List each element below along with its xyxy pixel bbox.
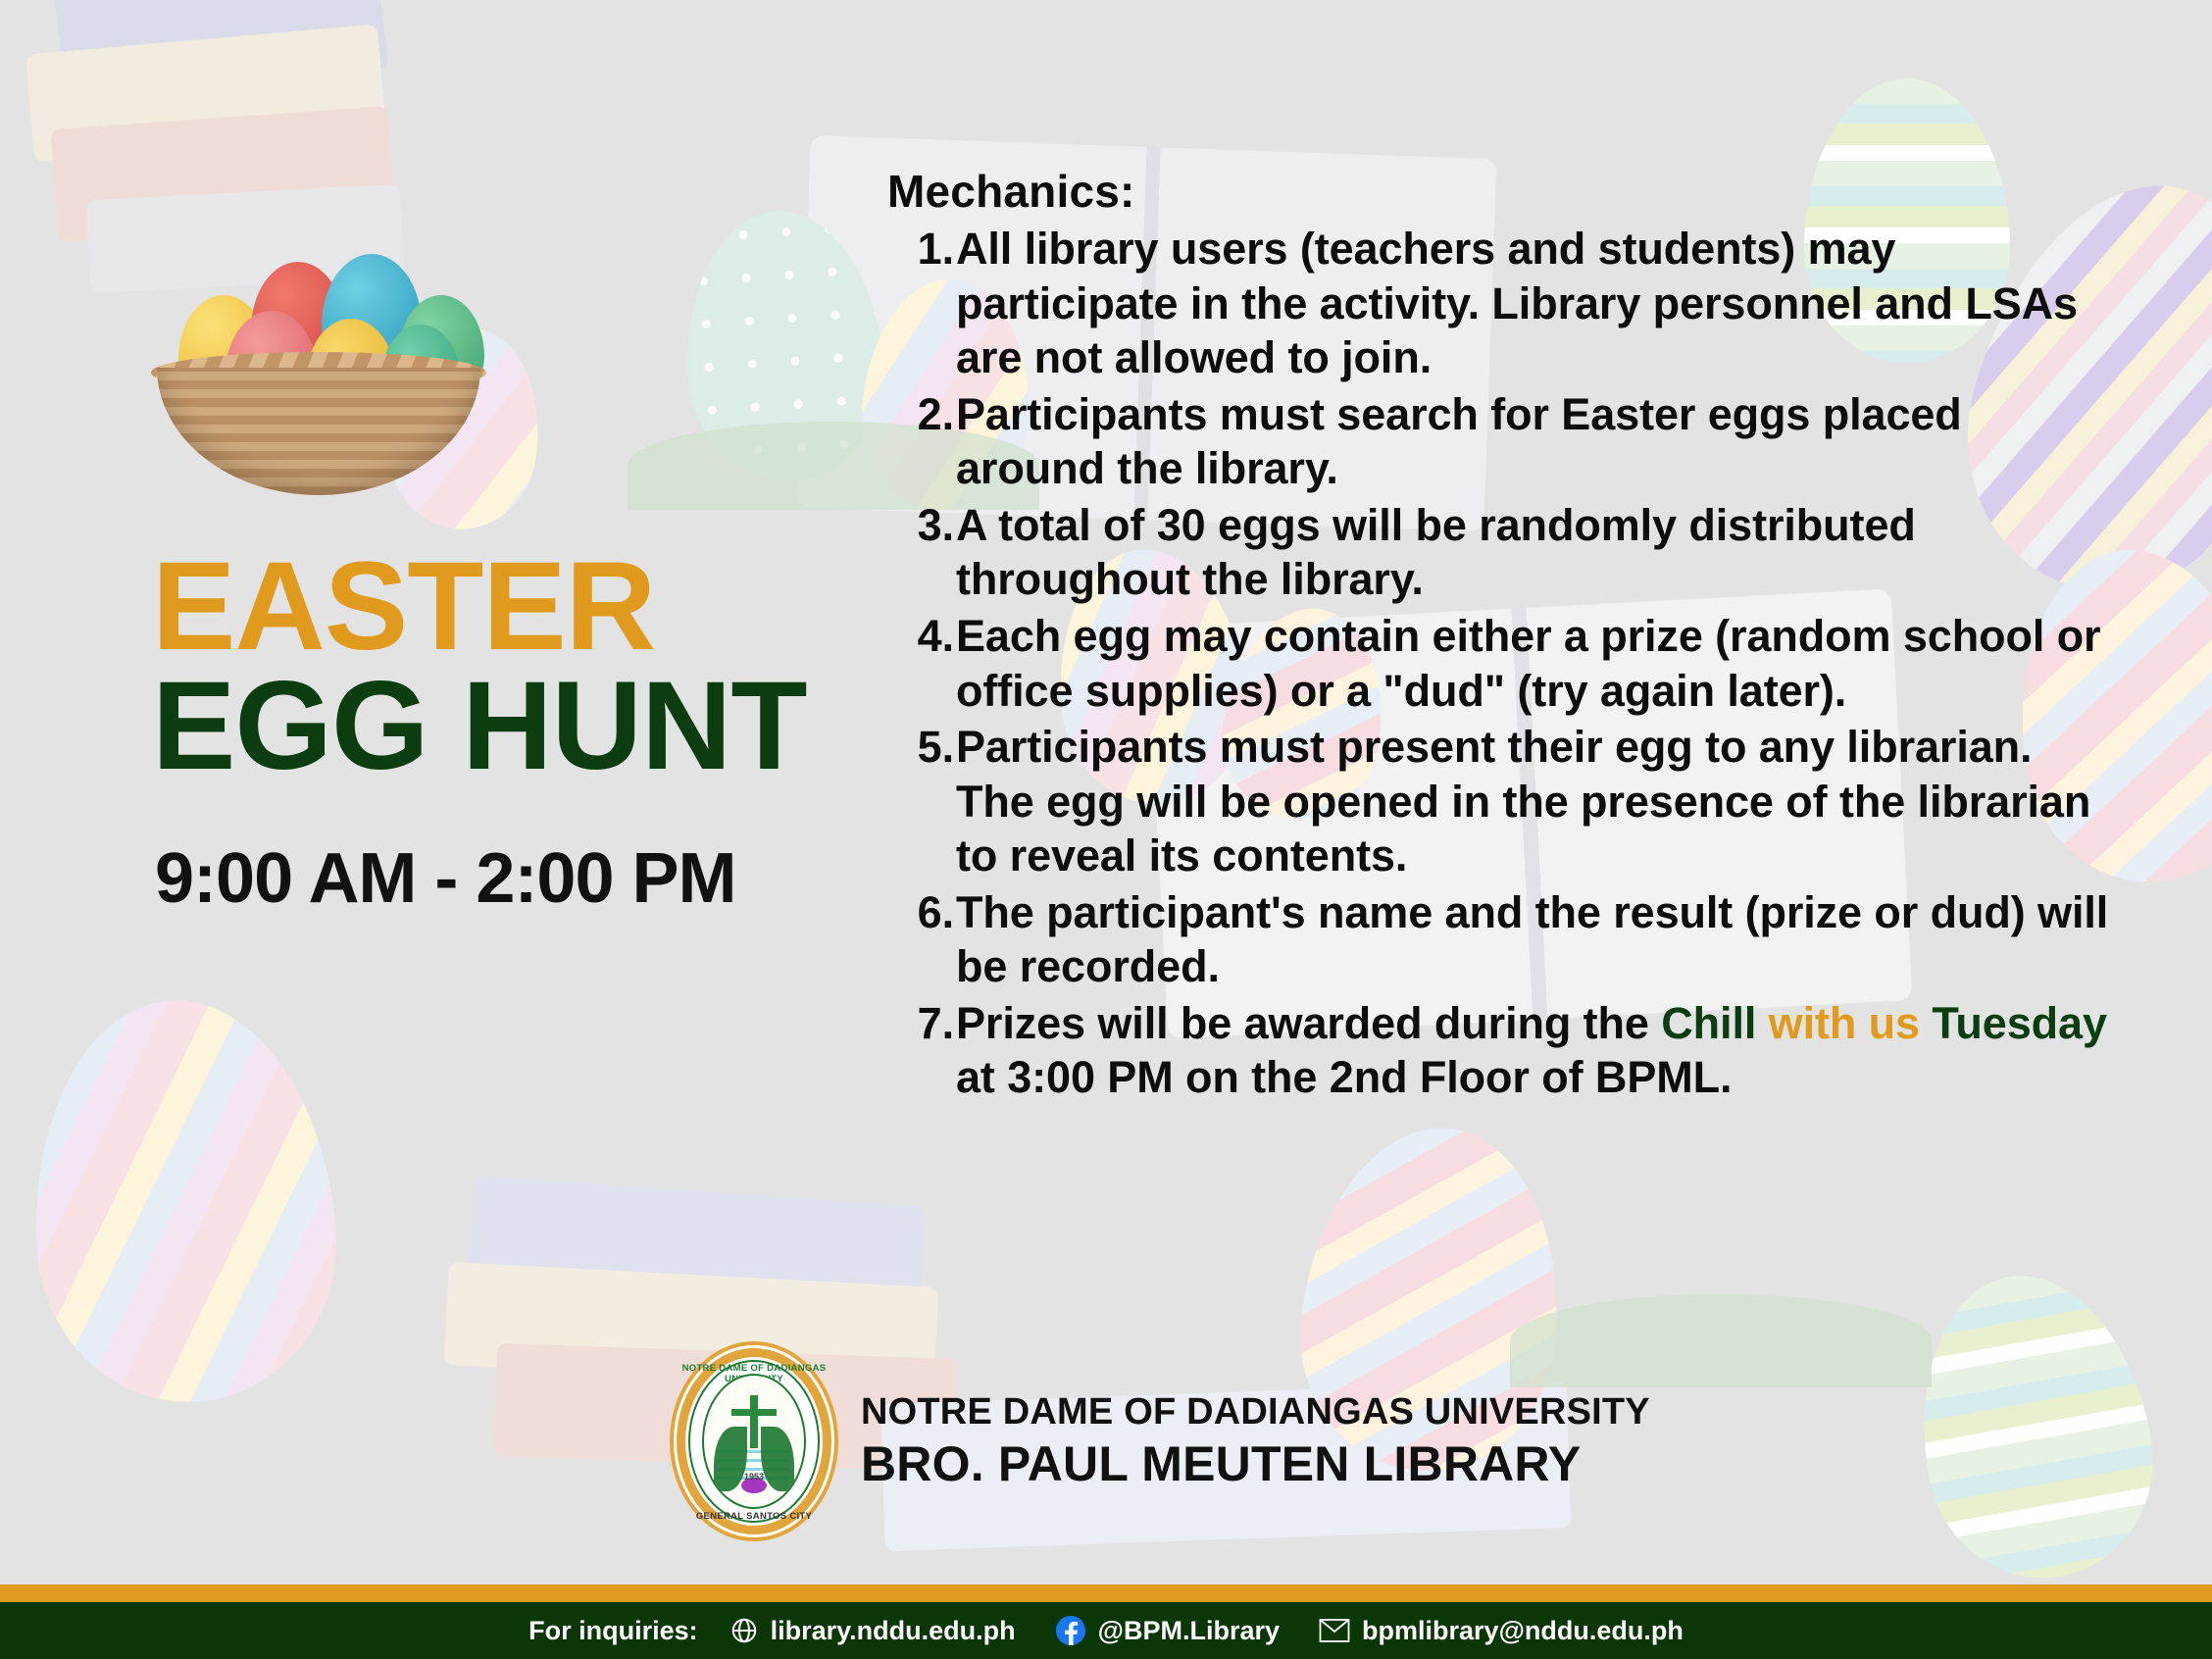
footer-website[interactable]: library.nddu.edu.ph <box>729 1616 1016 1646</box>
footer-facebook[interactable]: @BPM.Library <box>1055 1615 1280 1646</box>
footer-contact-bar: For inquiries: library.nddu.edu.ph @BPM.… <box>0 1602 2212 1659</box>
seal-emblem: 1953 <box>702 1374 806 1509</box>
mechanics-list: 1. All library users (teachers and stude… <box>887 222 2113 1105</box>
basket-bowl <box>157 368 480 495</box>
list-item-text: Participants must search for Easter eggs… <box>956 389 1962 494</box>
list-item-text: All library users (teachers and students… <box>956 224 2078 382</box>
title-easter: EASTER <box>152 549 838 665</box>
globe-icon <box>729 1616 759 1645</box>
list-item-number: 1. <box>899 222 954 276</box>
title-egg-hunt: EGG HUNT <box>152 665 838 787</box>
list-item: 2. Participants must search for Easter e… <box>887 387 2113 496</box>
list-item: 3. A total of 30 eggs will be randomly d… <box>887 498 2113 607</box>
event-time: 9:00 AM - 2:00 PM <box>155 838 736 919</box>
seal-year: 1953 <box>744 1472 764 1482</box>
gold-accent-bar <box>0 1584 2212 1602</box>
mechanics-heading: Mechanics: <box>887 165 2113 218</box>
list-item-text-chill: Chill <box>1661 998 1756 1048</box>
institution-name: NOTRE DAME OF DADIANGAS UNIVERSITY BRO. … <box>861 1391 1650 1492</box>
university-seal-icon: NOTRE DAME OF DADIANGAS UNIVERSITY 1953 … <box>677 1348 831 1534</box>
list-item-highlighted: 7.Prizes will be awarded during the Chil… <box>887 996 2113 1105</box>
footer-email[interactable]: bpmlibrary@nddu.edu.ph <box>1319 1616 1684 1646</box>
email-text: bpmlibrary@nddu.edu.ph <box>1362 1616 1684 1646</box>
list-item-text-tuesday: Tuesday <box>1932 998 2107 1048</box>
envelope-icon <box>1319 1618 1350 1643</box>
decorative-egg-icon-6 <box>1897 1257 2172 1595</box>
list-item: 1. All library users (teachers and stude… <box>887 222 2113 385</box>
list-item-number: 6. <box>899 885 954 940</box>
mechanics-section: Mechanics: 1. All library users (teacher… <box>887 165 2113 1107</box>
list-item-text: Each egg may contain either a prize (ran… <box>956 611 2100 716</box>
list-item-number: 5. <box>899 720 954 775</box>
seal-bottom-caption: GENERAL SANTOS CITY <box>677 1511 831 1522</box>
list-item-number: 2. <box>899 387 954 442</box>
cross-icon <box>750 1395 758 1448</box>
list-item-text-with-us: with us <box>1756 998 1932 1048</box>
library-name: BRO. PAUL MEUTEN LIBRARY <box>861 1435 1650 1492</box>
list-item: 4. Each egg may contain either a prize (… <box>887 609 2113 718</box>
list-item-number: 3. <box>899 498 954 553</box>
list-item-text: The participant's name and the result (p… <box>956 887 2108 992</box>
list-item-number: 7. <box>899 996 954 1051</box>
list-item: 5. Participants must present their egg t… <box>887 720 2113 883</box>
institution-identity: NOTRE DAME OF DADIANGAS UNIVERSITY 1953 … <box>677 1348 1650 1534</box>
poster-title: EASTER EGG HUNT <box>152 549 838 787</box>
list-item: 6. The participant's name and the result… <box>887 885 2113 994</box>
list-item-text: Participants must present their egg to a… <box>956 722 2090 880</box>
website-text: library.nddu.edu.ph <box>771 1616 1016 1646</box>
university-name: NOTRE DAME OF DADIANGAS UNIVERSITY <box>861 1391 1650 1433</box>
list-item-text: A total of 30 eggs will be randomly dist… <box>956 500 1916 605</box>
easter-basket-image <box>157 240 480 495</box>
list-item-number: 4. <box>899 609 954 664</box>
list-item-text-e: at 3:00 PM on the 2nd Floor of BPML. <box>956 1052 1732 1102</box>
list-item-text-a: Prizes will be awarded during the <box>956 998 1661 1048</box>
facebook-text: @BPM.Library <box>1098 1616 1280 1646</box>
footer-label: For inquiries: <box>528 1616 698 1646</box>
facebook-icon <box>1055 1615 1086 1646</box>
easter-egg-hunt-poster: EASTER EGG HUNT 9:00 AM - 2:00 PM Mechan… <box>0 0 2212 1659</box>
